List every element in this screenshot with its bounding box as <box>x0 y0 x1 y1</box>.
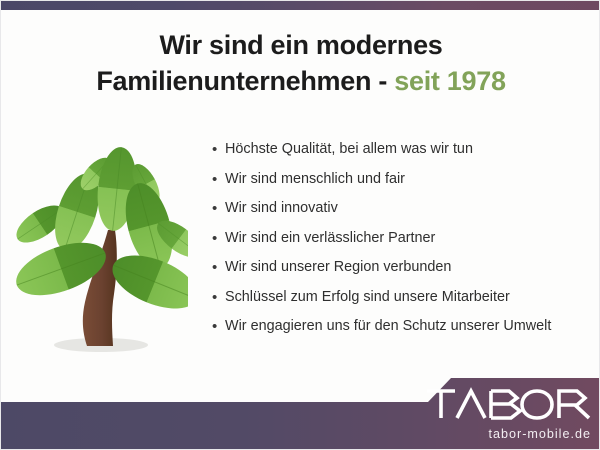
list-item: • Wir sind ein verlässlicher Partner <box>212 230 597 247</box>
bullet-marker-icon: • <box>212 230 225 247</box>
logo-url-label[interactable]: tabor-mobile.de <box>423 427 593 441</box>
heading-line-2-prefix: Familienunternehmen - <box>96 66 394 96</box>
slide-canvas: Wir sind ein modernes Familienunternehme… <box>0 0 600 450</box>
bullet-marker-icon: • <box>212 318 225 335</box>
list-item: • Wir engagieren uns für den Schutz unse… <box>212 318 597 335</box>
list-item-label: Höchste Qualität, bei allem was wir tun <box>225 141 473 158</box>
list-item-label: Schlüssel zum Erfolg sind unsere Mitarbe… <box>225 289 510 306</box>
top-accent-bar <box>1 1 600 10</box>
list-item: • Schlüssel zum Erfolg sind unsere Mitar… <box>212 289 597 306</box>
bullet-marker-icon: • <box>212 171 225 188</box>
list-item-label: Wir sind menschlich und fair <box>225 171 405 188</box>
heading-line-1: Wir sind ein modernes <box>1 27 600 63</box>
page-title: Wir sind ein modernes Familienunternehme… <box>1 27 600 99</box>
heading-accent-year: seit 1978 <box>394 66 505 96</box>
bullet-marker-icon: • <box>212 141 225 158</box>
footer-bar: tabor-mobile.de <box>1 373 600 449</box>
heading-line-2: Familienunternehmen - seit 1978 <box>1 63 600 99</box>
list-item: • Höchste Qualität, bei allem was wir tu… <box>212 141 597 158</box>
list-item-label: Wir sind unserer Region verbunden <box>225 259 451 276</box>
list-item-label: Wir sind innovativ <box>225 200 338 217</box>
bullet-marker-icon: • <box>212 259 225 276</box>
value-bullet-list: • Höchste Qualität, bei allem was wir tu… <box>212 141 597 348</box>
brand-logo[interactable]: tabor-mobile.de <box>423 387 593 441</box>
bullet-marker-icon: • <box>212 200 225 217</box>
list-item-label: Wir sind ein verlässlicher Partner <box>225 230 435 247</box>
list-item-label: Wir engagieren uns für den Schutz unsere… <box>225 318 551 335</box>
list-item: • Wir sind menschlich und fair <box>212 171 597 188</box>
tree-illustration <box>13 134 188 362</box>
list-item: • Wir sind unserer Region verbunden <box>212 259 597 276</box>
logo-wordmark-tabor <box>425 387 593 421</box>
list-item: • Wir sind innovativ <box>212 200 597 217</box>
bullet-marker-icon: • <box>212 289 225 306</box>
